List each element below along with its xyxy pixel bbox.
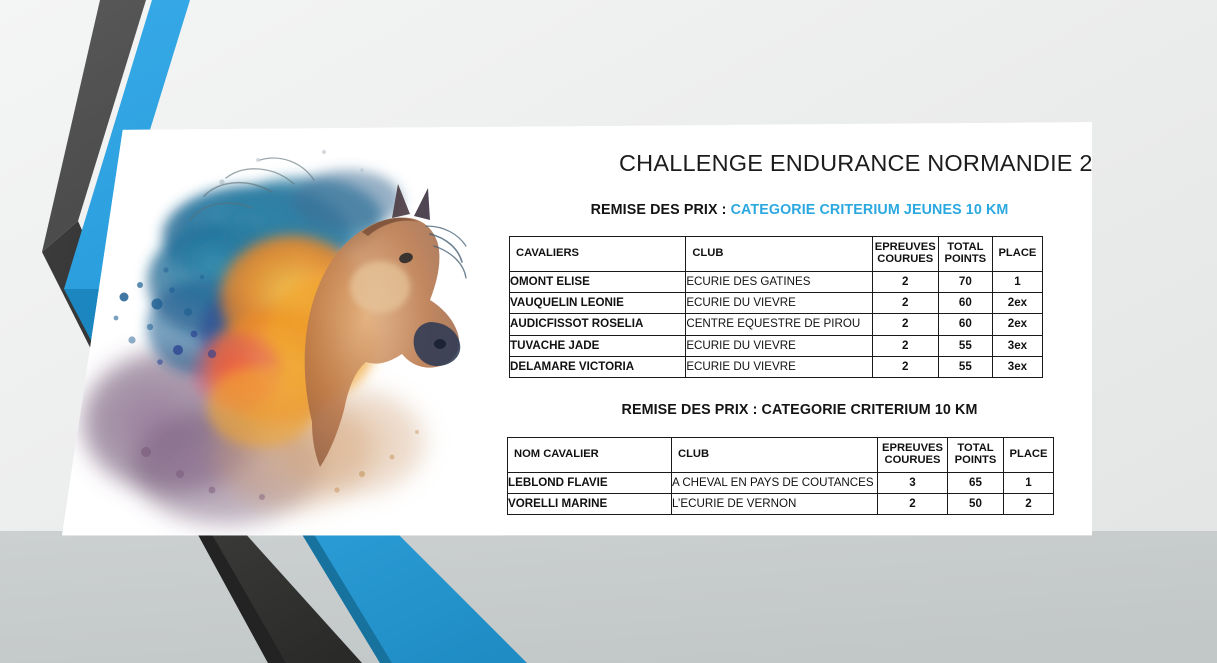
club-name: ECURIE DU VIEVRE bbox=[686, 335, 872, 356]
place: 1 bbox=[992, 272, 1042, 293]
events-run: 2 bbox=[878, 494, 948, 515]
header-line-2: COURUES bbox=[885, 454, 941, 466]
rider-name: VAUQUELIN LEONIE bbox=[510, 293, 686, 314]
table-header-row: CAVALIERS CLUB EPREUVES COURUES TOTAL PO… bbox=[510, 237, 1043, 272]
header-line-2: COURUES bbox=[877, 253, 933, 265]
column-header-total-points: TOTAL POINTS bbox=[938, 237, 992, 272]
total-points: 60 bbox=[938, 314, 992, 335]
header-line-1: TOTAL bbox=[947, 241, 983, 253]
table-row: VORELLI MARINE L’ECURIE DE VERNON 2 50 2 bbox=[508, 494, 1054, 515]
section-1-heading-prefix: REMISE DES PRIX : bbox=[591, 202, 731, 218]
rider-name: DELAMARE VICTORIA bbox=[510, 356, 686, 377]
column-header-nom-cavalier: NOM CAVALIER bbox=[508, 438, 672, 473]
column-header-club: CLUB bbox=[686, 237, 872, 272]
table-row: TUVACHE JADE ECURIE DU VIEVRE 2 55 3ex bbox=[510, 335, 1043, 356]
column-header-epreuves-courues: EPREUVES COURUES bbox=[878, 438, 948, 473]
watercolor-horse-artwork bbox=[62, 122, 502, 537]
section-1-heading: REMISE DES PRIX : CATEGORIE CRITERIUM JE… bbox=[507, 202, 1092, 218]
place: 3ex bbox=[992, 335, 1042, 356]
rider-name: VORELLI MARINE bbox=[508, 494, 672, 515]
rider-name: AUDICFISSOT ROSELIA bbox=[510, 314, 686, 335]
table-row: OMONT ELISE ECURIE DES GATINES 2 70 1 bbox=[510, 272, 1043, 293]
club-name: L’ECURIE DE VERNON bbox=[672, 494, 878, 515]
rider-name: OMONT ELISE bbox=[510, 272, 686, 293]
column-header-epreuves-courues: EPREUVES COURUES bbox=[872, 237, 938, 272]
club-name: ECURIE DU VIEVRE bbox=[686, 293, 872, 314]
place: 2ex bbox=[992, 314, 1042, 335]
prize-document: CHALLENGE ENDURANCE NORMANDIE 2025 REMIS… bbox=[507, 132, 1092, 537]
table-row: AUDICFISSOT ROSELIA CENTRE EQUESTRE DE P… bbox=[510, 314, 1043, 335]
section-2-heading: REMISE DES PRIX : CATEGORIE CRITERIUM 10… bbox=[507, 402, 1092, 418]
place: 1 bbox=[1004, 473, 1054, 494]
club-name: CENTRE EQUESTRE DE PIROU bbox=[686, 314, 872, 335]
total-points: 65 bbox=[948, 473, 1004, 494]
header-line-1: EPREUVES bbox=[875, 241, 936, 253]
club-name: ECURIE DU VIEVRE bbox=[686, 356, 872, 377]
column-header-place: PLACE bbox=[992, 237, 1042, 272]
section-1-heading-accent: CATEGORIE CRITERIUM JEUNES 10 KM bbox=[731, 202, 1009, 218]
total-points: 60 bbox=[938, 293, 992, 314]
column-header-place: PLACE bbox=[1004, 438, 1054, 473]
header-line-1: EPREUVES bbox=[882, 442, 943, 454]
events-run: 2 bbox=[872, 314, 938, 335]
table-row: DELAMARE VICTORIA ECURIE DU VIEVRE 2 55 … bbox=[510, 356, 1043, 377]
total-points: 55 bbox=[938, 335, 992, 356]
events-run: 2 bbox=[872, 293, 938, 314]
content-card: CHALLENGE ENDURANCE NORMANDIE 2025 REMIS… bbox=[0, 0, 1217, 663]
total-points: 55 bbox=[938, 356, 992, 377]
table-row: VAUQUELIN LEONIE ECURIE DU VIEVRE 2 60 2… bbox=[510, 293, 1043, 314]
place: 2 bbox=[1004, 494, 1054, 515]
events-run: 2 bbox=[872, 335, 938, 356]
column-header-total-points: TOTAL POINTS bbox=[948, 438, 1004, 473]
events-run: 3 bbox=[878, 473, 948, 494]
place: 3ex bbox=[992, 356, 1042, 377]
table-row: LEBLOND FLAVIE A CHEVAL EN PAYS DE COUTA… bbox=[508, 473, 1054, 494]
table-header-row: NOM CAVALIER CLUB EPREUVES COURUES TOTAL… bbox=[508, 438, 1054, 473]
results-table-jeunes: CAVALIERS CLUB EPREUVES COURUES TOTAL PO… bbox=[509, 236, 1043, 378]
slide-canvas: CHALLENGE ENDURANCE NORMANDIE 2025 REMIS… bbox=[0, 0, 1217, 663]
header-line-2: POINTS bbox=[945, 253, 987, 265]
events-run: 2 bbox=[872, 272, 938, 293]
page-title: CHALLENGE ENDURANCE NORMANDIE 2025 bbox=[619, 150, 1132, 177]
column-header-cavaliers: CAVALIERS bbox=[510, 237, 686, 272]
total-points: 70 bbox=[938, 272, 992, 293]
header-line-2: POINTS bbox=[955, 454, 997, 466]
events-run: 2 bbox=[872, 356, 938, 377]
column-header-club: CLUB bbox=[672, 438, 878, 473]
header-line-1: TOTAL bbox=[957, 442, 993, 454]
rider-name: TUVACHE JADE bbox=[510, 335, 686, 356]
club-name: ECURIE DES GATINES bbox=[686, 272, 872, 293]
rider-name: LEBLOND FLAVIE bbox=[508, 473, 672, 494]
results-table-criterium: NOM CAVALIER CLUB EPREUVES COURUES TOTAL… bbox=[507, 437, 1054, 515]
place: 2ex bbox=[992, 293, 1042, 314]
total-points: 50 bbox=[948, 494, 1004, 515]
club-name: A CHEVAL EN PAYS DE COUTANCES bbox=[672, 473, 878, 494]
